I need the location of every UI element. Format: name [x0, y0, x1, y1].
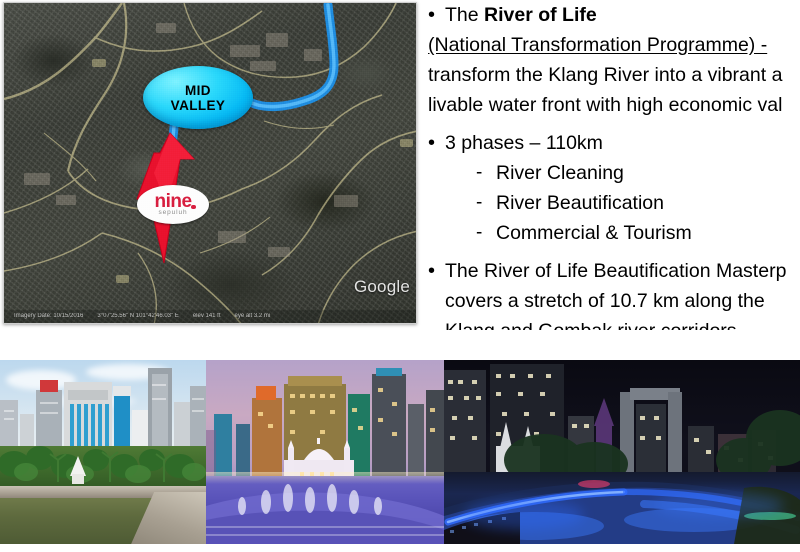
sub-dash-marker: -: [476, 158, 496, 188]
slide-canvas: MID VALLEY nine sepuluh Google Imagery D…: [0, 0, 800, 552]
bullet-block-2: • 3 phases – 110km - River Cleaning - Ri…: [428, 128, 692, 248]
bullet-marker: •: [428, 256, 445, 286]
sub-item-label: River Cleaning: [496, 158, 624, 188]
bullet-block-3: • The River of Life Beautification Maste…: [428, 256, 786, 330]
bullet-3-line-2: covers a stretch of 10.7 km along the: [428, 286, 786, 316]
photo3-glow: [464, 500, 584, 530]
photo-twilight-fountain-plaza[interactable]: [206, 360, 444, 544]
content-text-column: • The River of Life (National Transforma…: [428, 0, 800, 330]
photo2-light-glow: [206, 472, 444, 484]
bullet-2-first-line: • 3 phases – 110km: [428, 128, 692, 158]
bullet-1-line-1-plain: The: [445, 4, 484, 26]
photo-night-blue-river[interactable]: [444, 360, 800, 544]
sub-dash-marker: -: [476, 188, 496, 218]
photo-strip: [0, 360, 800, 544]
bullet-3-line-1: The River of Life Beautification Masterp: [445, 256, 786, 286]
bullet-1-first-line: • The River of Life: [428, 0, 782, 30]
sub-item-label: River Beautification: [496, 188, 664, 218]
bullet-marker: •: [428, 128, 445, 158]
bullet-1-line-1-bold: River of Life: [484, 4, 597, 26]
sub-item-river-beautification: - River Beautification: [428, 188, 692, 218]
sub-item-label: Commercial & Tourism: [496, 218, 692, 248]
bullet-2-line-1: 3 phases – 110km: [445, 128, 603, 158]
bullet-3-first-line: • The River of Life Beautification Maste…: [428, 256, 786, 286]
sub-item-river-cleaning: - River Cleaning: [428, 158, 692, 188]
bullet-3-line-3: Klang and Gombak river corridors.: [428, 316, 786, 330]
sub-item-commercial-tourism: - Commercial & Tourism: [428, 218, 692, 248]
photo3-glow: [654, 492, 784, 518]
photo-daytime-river-confluence[interactable]: [0, 360, 206, 544]
satellite-map-panel[interactable]: MID VALLEY nine sepuluh Google Imagery D…: [3, 2, 417, 324]
bullet-1-line-4: livable water front with high economic v…: [428, 90, 782, 120]
bullet-1-line-3: transform the Klang River into a vibrant…: [428, 60, 782, 90]
photo2-fountains: [206, 476, 444, 544]
map-texture-overlay: [4, 3, 416, 323]
sub-dash-marker: -: [476, 218, 496, 248]
bullet-1-line-1: The River of Life: [445, 0, 597, 30]
bullet-1-line-2: (National Transformation Programme) -: [428, 30, 782, 60]
bullet-block-1: • The River of Life (National Transforma…: [428, 0, 782, 120]
bullet-marker: •: [428, 0, 445, 30]
